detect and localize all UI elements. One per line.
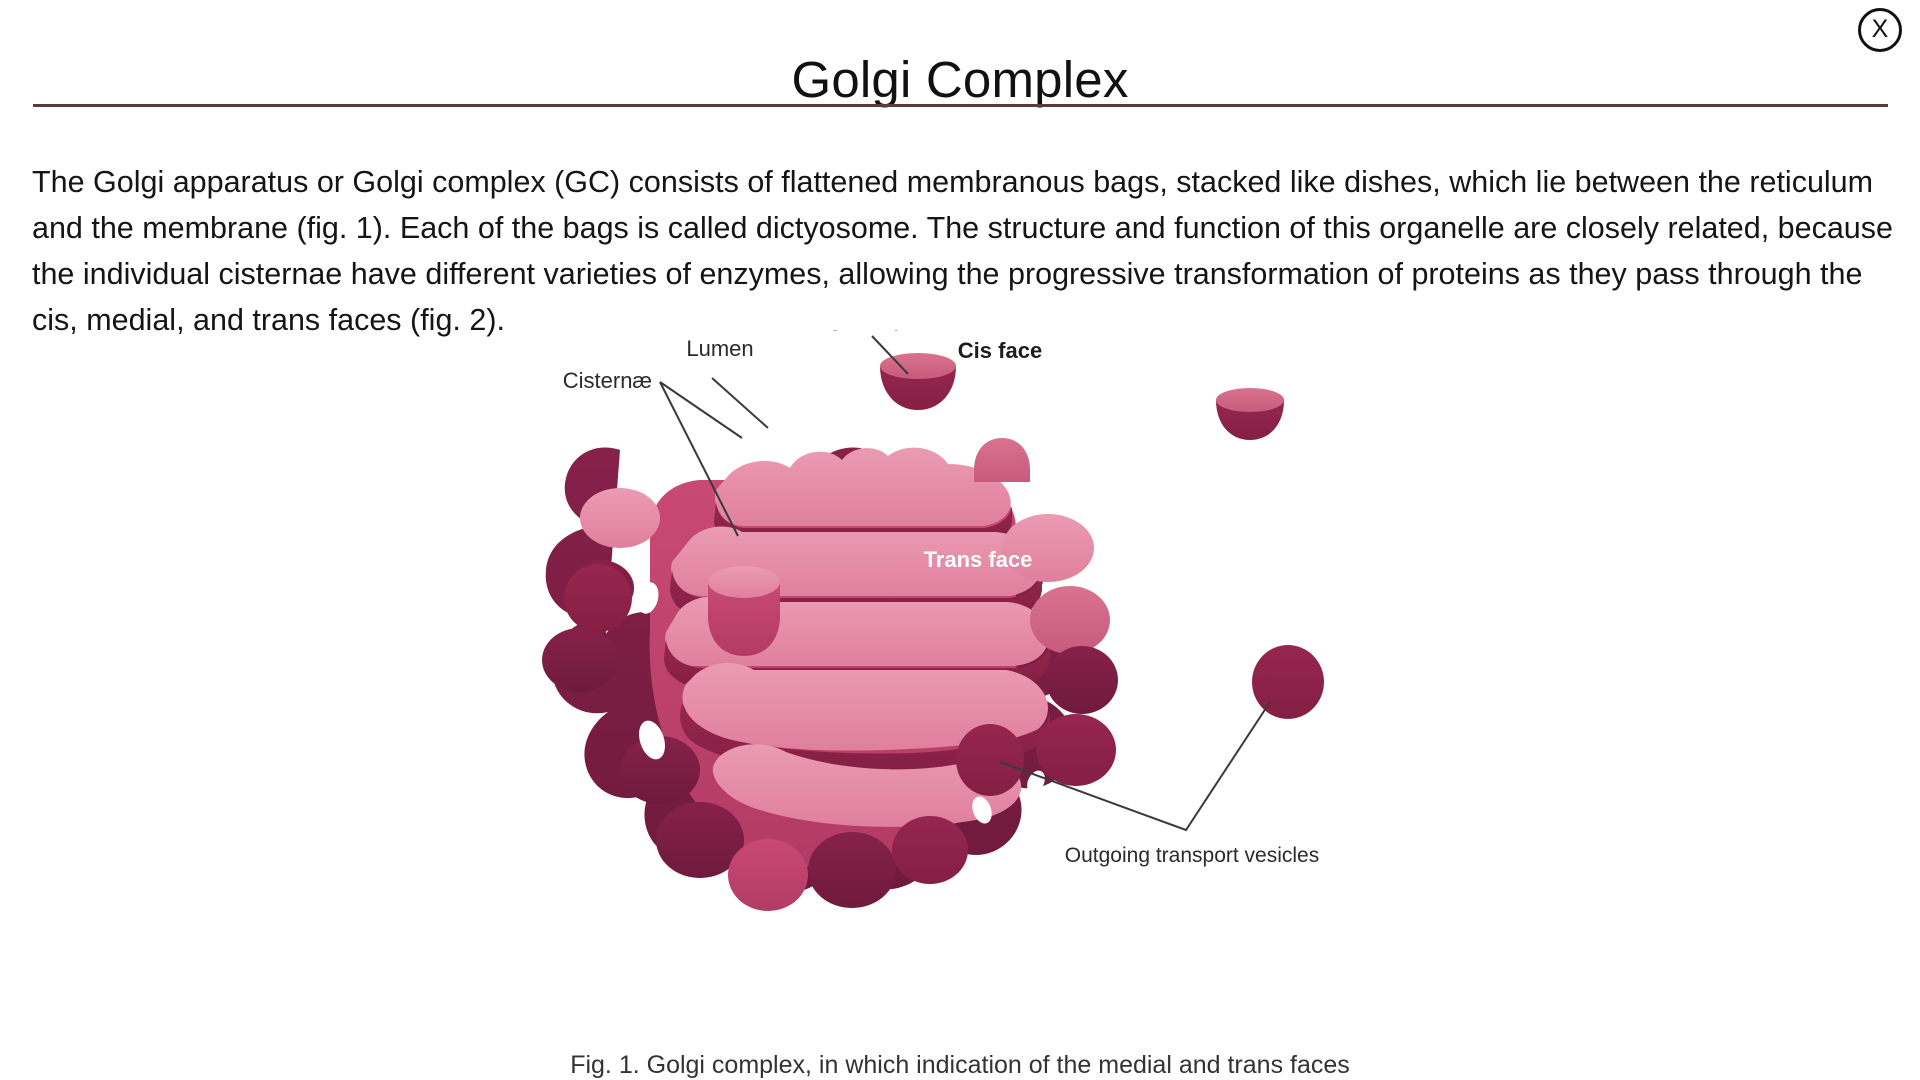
cis-face-bump bbox=[974, 438, 1030, 482]
close-button-label: X bbox=[1872, 17, 1889, 42]
label-outgoing-transport-vesicles: Outgoing transport vesicles bbox=[1065, 844, 1319, 867]
figure-caption: Fig. 1. Golgi complex, in which indicati… bbox=[0, 1048, 1920, 1080]
leader-cisternae-top bbox=[660, 382, 742, 438]
free-vesicle-upper-right bbox=[1216, 388, 1284, 440]
slide-page: Golgi Complex X The Golgi apparatus or G… bbox=[0, 0, 1920, 1080]
golgi-complex-diagram: Incoming transport vesicle Lumen Cistern… bbox=[0, 330, 1920, 1080]
label-incoming-transport-vesicle: Incoming transport vesicle bbox=[756, 330, 1000, 331]
leader-lumen bbox=[712, 378, 768, 428]
golgi-diagram-svg: Incoming transport vesicle Lumen Cistern… bbox=[0, 330, 1920, 1080]
label-trans-face: Trans face bbox=[924, 547, 1033, 572]
label-cis-face: Cis face bbox=[958, 338, 1042, 363]
incoming-transport-vesicle bbox=[880, 353, 956, 410]
free-vesicle-left bbox=[564, 564, 632, 632]
label-cisternae: Cisternæ bbox=[563, 368, 652, 393]
label-lumen: Lumen bbox=[686, 336, 753, 361]
close-circle-icon[interactable]: X bbox=[1858, 8, 1902, 52]
header-divider bbox=[33, 104, 1888, 107]
body-paragraph: The Golgi apparatus or Golgi complex (GC… bbox=[32, 159, 1894, 343]
outgoing-transport-vesicle-right bbox=[1252, 645, 1324, 719]
outgoing-transport-vesicle-bottom bbox=[956, 724, 1024, 796]
